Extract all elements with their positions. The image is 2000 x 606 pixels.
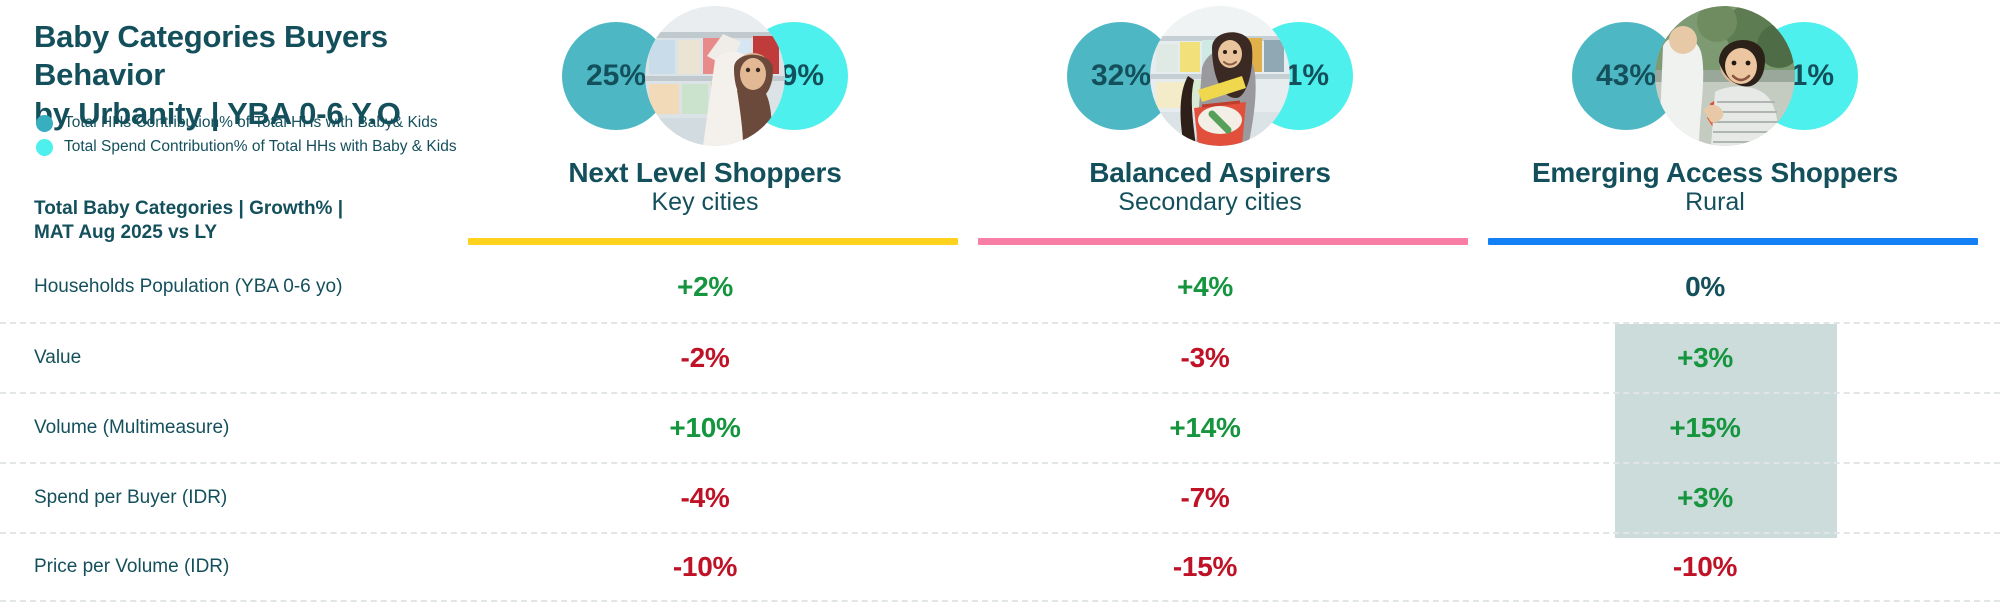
page-title-line1: Baby Categories Buyers Behavior: [34, 18, 514, 95]
cell-next-level-shoppers: +10%: [455, 412, 955, 444]
segment-subtitle: Rural: [1465, 188, 1965, 217]
segment-name: Next Level Shoppers: [455, 158, 955, 188]
segment-photo-next-level-shoppers: [645, 6, 785, 146]
row-label: Spend per Buyer (IDR): [0, 487, 455, 509]
row-label: Volume (Multimeasure): [0, 417, 455, 439]
segment-header-balanced-aspirers: 32%: [960, 0, 1460, 250]
cell-emerging-access-shoppers: +15%: [1455, 412, 1955, 444]
metric-caption-line2: MAT Aug 2025 vs LY: [34, 221, 414, 245]
segment-name: Emerging Access Shoppers: [1465, 158, 1965, 188]
cell-next-level-shoppers: -10%: [455, 551, 955, 583]
segment-bubbles: 32%: [960, 0, 1460, 150]
row-label: Households Population (YBA 0-6 yo): [0, 276, 455, 298]
cell-next-level-shoppers: +2%: [455, 271, 955, 303]
row-label: Price per Volume (IDR): [0, 556, 455, 578]
table-row: Spend per Buyer (IDR) -4% -7% +3%: [0, 462, 2000, 532]
metric-caption: Total Baby Categories | Growth% | MAT Au…: [34, 197, 414, 246]
legend-label: Total HHs Contribution% of Total HHs wit…: [64, 114, 438, 132]
legend-label: Total Spend Contribution% of Total HHs w…: [64, 138, 457, 156]
segment-subtitle: Secondary cities: [960, 188, 1460, 217]
cell-emerging-access-shoppers: +3%: [1455, 482, 1955, 514]
metric-caption-line1: Total Baby Categories | Growth% |: [34, 197, 414, 221]
cell-balanced-aspirers: +4%: [955, 271, 1455, 303]
segment-rule-next-level-shoppers: [468, 238, 958, 245]
segment-header-emerging-access-shoppers: 43%: [1465, 0, 1965, 250]
segment-subtitle: Key cities: [455, 188, 955, 217]
segment-rule-emerging-access-shoppers: [1488, 238, 1978, 245]
cell-emerging-access-shoppers: +3%: [1455, 342, 1955, 374]
table-row: Volume (Multimeasure) +10% +14% +15%: [0, 392, 2000, 462]
segment-bubbles: 43%: [1465, 0, 1965, 150]
cell-next-level-shoppers: -4%: [455, 482, 955, 514]
cell-emerging-access-shoppers: -10%: [1455, 551, 1955, 583]
cell-balanced-aspirers: +14%: [955, 412, 1455, 444]
table-row: Price per Volume (IDR) -10% -15% -10%: [0, 532, 2000, 602]
segment-photo-balanced-aspirers: [1150, 6, 1290, 146]
table-row: Value -2% -3% +3%: [0, 322, 2000, 392]
segment-header-next-level-shoppers: 25%: [455, 0, 955, 250]
segment-photo-emerging-access-shoppers: [1655, 6, 1795, 146]
cell-balanced-aspirers: -15%: [955, 551, 1455, 583]
table-row: Households Population (YBA 0-6 yo) +2% +…: [0, 252, 2000, 322]
row-label: Value: [0, 347, 455, 369]
teal-dot-icon: [36, 115, 53, 132]
metrics-table: Households Population (YBA 0-6 yo) +2% +…: [0, 252, 2000, 602]
cell-balanced-aspirers: -7%: [955, 482, 1455, 514]
infographic-board: Baby Categories Buyers Behavior by Urban…: [0, 0, 2000, 606]
cell-balanced-aspirers: -3%: [955, 342, 1455, 374]
cyan-dot-icon: [36, 139, 53, 156]
cell-emerging-access-shoppers: 0%: [1455, 271, 1955, 303]
segment-rule-balanced-aspirers: [978, 238, 1468, 245]
segment-bubbles: 25%: [455, 0, 955, 150]
segment-name: Balanced Aspirers: [960, 158, 1460, 188]
cell-next-level-shoppers: -2%: [455, 342, 955, 374]
